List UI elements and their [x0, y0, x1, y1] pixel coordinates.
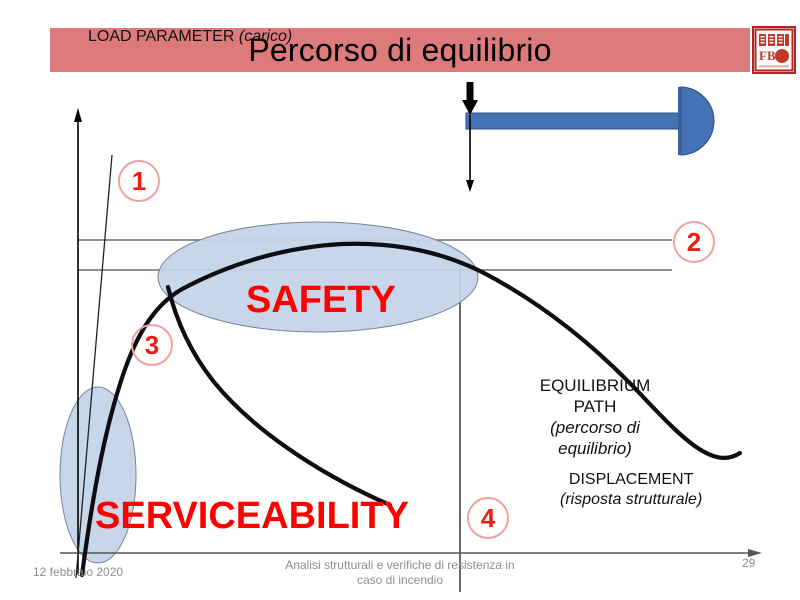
x-axis-label-main: DISPLACEMENT: [560, 470, 702, 490]
y-axis-label: LOAD PARAMETER (carico): [88, 28, 292, 46]
footer-course-line-2: caso di incendio: [250, 573, 550, 588]
y-axis-label-paren: (carico): [239, 28, 292, 45]
annotation-line-4: equilibrio): [505, 438, 685, 459]
y-axis-label-main: LOAD PARAMETER: [88, 28, 234, 45]
annotation-line-3: (percorso di: [505, 417, 685, 438]
slide-canvas: Percorso di equilibrio FB: [0, 0, 800, 600]
slide-number: 29: [742, 556, 755, 570]
x-axis-label: DISPLACEMENT (risposta strutturale): [560, 470, 702, 510]
marker-3[interactable]: 3: [131, 324, 173, 366]
marker-2[interactable]: 2: [673, 221, 715, 263]
marker-1[interactable]: 1: [118, 160, 160, 202]
x-axis: [60, 549, 762, 557]
footer-date: 12 febbraio 2020: [33, 565, 123, 579]
equilibrium-path-annotation: EQUILIBRIUM PATH (percorso di equilibrio…: [505, 375, 685, 459]
annotation-line-2: PATH: [505, 396, 685, 417]
serviceability-zone-label: SERVICEABILITY: [95, 495, 409, 538]
safety-zone-label: SAFETY: [246, 279, 396, 322]
annotation-line-1: EQUILIBRIUM: [505, 375, 685, 396]
footer-course-title: Analisi strutturali e verifiche di resis…: [250, 558, 550, 588]
marker-4[interactable]: 4: [467, 497, 509, 539]
footer-course-line-1: Analisi strutturali e verifiche di resis…: [250, 558, 550, 573]
x-axis-label-paren: (risposta strutturale): [560, 490, 702, 510]
